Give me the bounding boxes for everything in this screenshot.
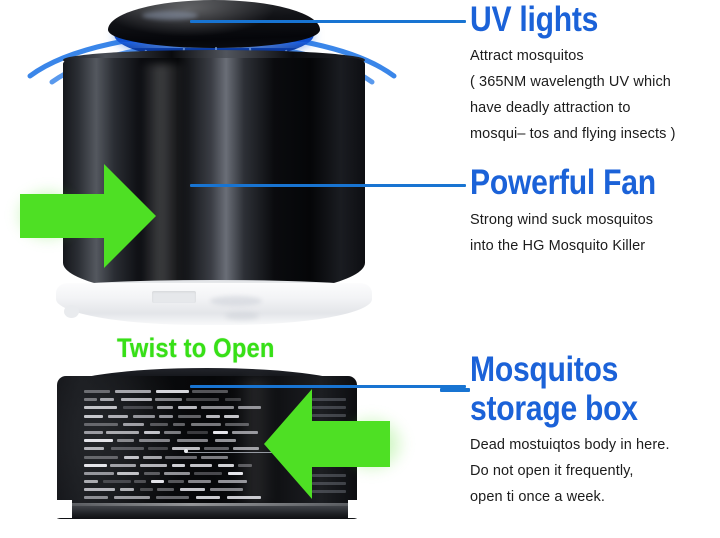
grille-slot <box>238 464 252 467</box>
grille-row <box>84 470 262 478</box>
grille-row <box>84 486 262 494</box>
leader-line-storage-box-stub <box>440 388 470 392</box>
grille-slot <box>100 398 114 401</box>
grille-slot <box>120 488 134 491</box>
grille-slot <box>84 406 117 409</box>
grille-slot <box>157 406 173 409</box>
callout-heading-storage-box-line2: storage box <box>470 391 642 426</box>
bottom-unit-foot-right-cut <box>348 500 376 518</box>
callout-heading-storage-box-line1: Mosquitos <box>470 352 642 387</box>
grille-slot <box>84 390 110 393</box>
grille-slot <box>194 472 222 475</box>
grille-slot <box>124 456 139 459</box>
grille-slot <box>84 415 103 418</box>
grille-row <box>84 462 262 470</box>
grille-slot <box>84 480 98 483</box>
grille-slot <box>84 439 113 442</box>
grille-slot <box>103 480 131 483</box>
grille-slot <box>150 423 168 426</box>
callout-uv-line-4: mosqui– tos and flying insects ) <box>470 121 676 147</box>
grille-row <box>84 404 262 412</box>
grille-slot <box>123 423 144 426</box>
grille-pointer-dot <box>184 449 188 453</box>
grille-row <box>84 437 262 445</box>
grille-slot <box>144 472 160 475</box>
grille-slot <box>156 390 189 393</box>
callout-powerful-fan: Powerful Fan Strong wind suck mosquitos … <box>470 165 686 259</box>
product-illustration: Twist to Open <box>0 0 440 538</box>
grille-slot <box>84 456 118 459</box>
grille-slot <box>218 464 234 467</box>
grille-row <box>84 429 262 437</box>
grille-slot <box>84 464 107 467</box>
grille-slot <box>201 406 234 409</box>
grille-slot <box>168 480 184 483</box>
leader-line-powerful-fan <box>190 184 466 187</box>
storage-box-grille <box>84 388 262 503</box>
grille-slot <box>148 447 168 450</box>
grille-slot <box>178 415 201 418</box>
callout-uv-line-3: have deadly attraction to <box>470 95 676 121</box>
grille-slot <box>224 415 239 418</box>
leader-line-storage-box <box>190 385 466 388</box>
grille-slot <box>213 431 228 434</box>
grille-slot <box>110 464 136 467</box>
airflow-arrow-left-icon <box>262 385 392 503</box>
grille-slot <box>192 390 228 393</box>
grille-slot <box>117 439 134 442</box>
callout-heading-powerful-fan: Powerful Fan <box>470 165 656 200</box>
grille-row <box>84 478 262 486</box>
callout-fan-line-2: into the HG Mosquito Killer <box>470 233 686 259</box>
callout-uv-line-1: Attract mosquitos <box>470 43 676 69</box>
grille-slot <box>159 415 173 418</box>
grille-slot <box>156 496 189 499</box>
grille-slot <box>151 480 164 483</box>
grille-slot <box>157 488 174 491</box>
grille-slot <box>164 431 181 434</box>
grille-slot <box>164 472 190 475</box>
grille-slot <box>144 431 160 434</box>
leader-line-uv-lights <box>190 20 466 23</box>
grille-slot <box>84 472 114 475</box>
grille-slot <box>84 496 108 499</box>
grille-slot <box>155 398 182 401</box>
grille-slot <box>165 456 197 459</box>
grille-slot <box>238 406 261 409</box>
grille-slot <box>227 496 261 499</box>
callout-uv-line-2: ( 365NM wavelength UV which <box>470 69 676 95</box>
grille-slot <box>172 464 185 467</box>
grille-slot <box>204 447 229 450</box>
grille-slot <box>201 456 228 459</box>
grille-slot <box>225 423 249 426</box>
bottom-unit-foot-left-cut <box>44 500 72 518</box>
grille-slot <box>210 488 243 491</box>
grille-slot <box>187 431 208 434</box>
grille-slot <box>196 496 220 499</box>
base-shadow-detail-2 <box>225 312 259 320</box>
grille-row <box>84 421 262 429</box>
callout-storage-box: Mosquitos storage box Dead mostuiqtos bo… <box>470 352 670 510</box>
grille-slot <box>111 447 144 450</box>
dome-top-surface <box>108 0 320 48</box>
top-unit-white-base <box>56 283 372 325</box>
grille-slot <box>173 423 185 426</box>
grille-slot <box>84 431 103 434</box>
grille-slot <box>188 480 211 483</box>
grille-row <box>84 388 262 396</box>
grille-slot <box>117 472 139 475</box>
grille-slot <box>108 415 128 418</box>
infographic-canvas: Twist to Open UV lights Attract mosquito… <box>0 0 720 538</box>
callout-box-line-2: Do not open it frequently, <box>470 458 670 484</box>
callout-uv-lights: UV lights Attract mosquitos ( 365NM wave… <box>470 2 676 147</box>
grille-row <box>84 494 262 502</box>
grille-slot <box>121 398 152 401</box>
grille-slot <box>139 439 170 442</box>
grille-slot <box>178 406 197 409</box>
grille-slot <box>180 488 205 491</box>
grille-slot <box>123 406 153 409</box>
callout-heading-uv-lights: UV lights <box>470 2 647 37</box>
callout-box-line-1: Dead mostuiqtos body in here. <box>470 432 670 458</box>
grille-slot <box>218 480 247 483</box>
callout-fan-line-1: Strong wind suck mosquitos <box>470 207 686 233</box>
grille-slot <box>133 415 155 418</box>
grille-slot <box>191 423 221 426</box>
grille-slot <box>140 464 167 467</box>
grille-slot <box>206 415 220 418</box>
grille-slot <box>143 456 162 459</box>
grille-slot <box>115 390 151 393</box>
grille-slot <box>228 472 243 475</box>
grille-row <box>84 396 262 404</box>
base-knob-detail <box>64 305 79 318</box>
grille-slot <box>84 488 115 491</box>
grille-slot <box>84 398 97 401</box>
grille-row <box>84 454 262 462</box>
twist-to-open-label: Twist to Open <box>117 333 275 364</box>
airflow-arrow-right-icon <box>18 160 158 272</box>
grille-slot <box>84 423 118 426</box>
grille-slot <box>186 398 219 401</box>
grille-slot <box>233 447 259 450</box>
base-shadow-detail-1 <box>210 296 262 306</box>
grille-slot <box>140 488 153 491</box>
callout-box-line-3: open ti once a week. <box>470 484 670 510</box>
grille-slot <box>84 447 104 450</box>
grille-slot <box>114 496 150 499</box>
grille-slot <box>225 398 241 401</box>
grille-slot <box>134 480 146 483</box>
grille-slot <box>106 431 139 434</box>
grille-slot <box>215 439 236 442</box>
bottom-unit-base-highlight <box>52 503 362 506</box>
grille-slot <box>190 464 212 467</box>
grille-row <box>84 413 262 421</box>
grille-slot <box>177 439 208 442</box>
dome-specular-highlight <box>142 11 198 20</box>
base-slot-detail <box>152 291 196 303</box>
grille-slot <box>232 431 258 434</box>
